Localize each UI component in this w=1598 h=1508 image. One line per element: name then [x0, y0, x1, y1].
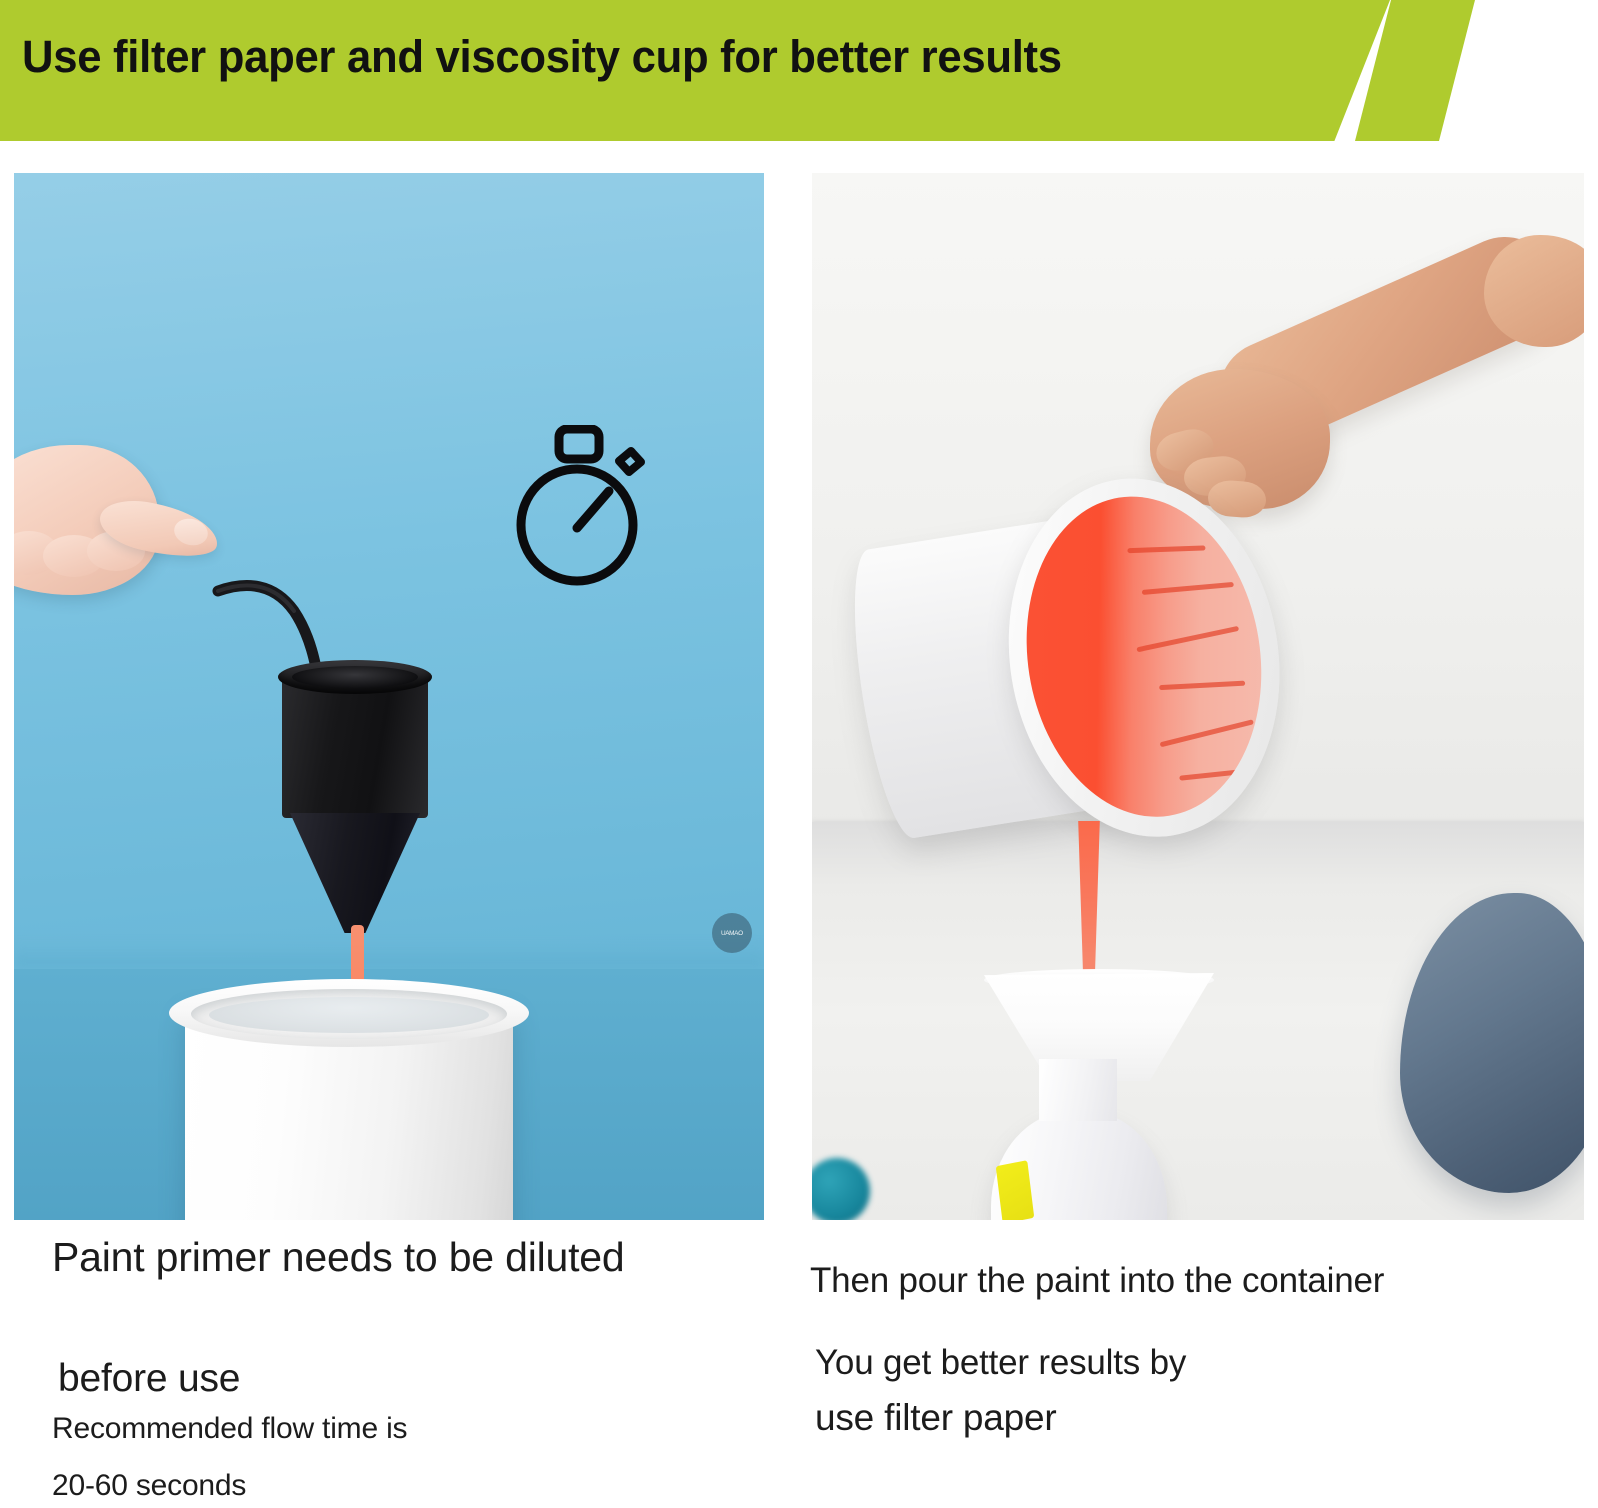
- paint-streak: [1160, 719, 1254, 747]
- right-caption-line-1: Then pour the paint into the container: [810, 1256, 1570, 1305]
- hand-holding-cup: [14, 435, 219, 610]
- stopwatch-icon: [507, 425, 653, 591]
- page-title: Use filter paper and viscosity cup for b…: [22, 31, 1062, 83]
- bucket-interior: [209, 997, 489, 1033]
- paint-streak: [1127, 545, 1205, 553]
- paint-streak: [1136, 626, 1239, 653]
- watermark-label: UAMAO: [721, 930, 743, 936]
- white-bottle: [977, 1059, 1177, 1220]
- left-caption-line-2: before use: [58, 1352, 758, 1407]
- viscosity-cup-body: [282, 673, 428, 818]
- left-caption-line-3: Recommended flow time is: [52, 1408, 752, 1450]
- header-banner: Use filter paper and viscosity cup for b…: [0, 0, 1598, 146]
- left-caption-line-1: Paint primer needs to be diluted: [52, 1228, 752, 1286]
- white-bucket: [169, 953, 529, 1220]
- paint-streak: [1159, 681, 1245, 690]
- left-caption-line-4: 20-60 seconds: [52, 1465, 752, 1507]
- right-image-panel: [812, 173, 1584, 1220]
- right-caption-line-2: You get better results by: [815, 1338, 1575, 1387]
- left-image-panel: UAMAO: [14, 173, 764, 1220]
- right-caption-line-3: use filter paper: [815, 1392, 1575, 1444]
- tilted-paint-bucket: [833, 443, 1315, 933]
- paint-streak: [1142, 582, 1234, 595]
- bottle-neck: [1039, 1059, 1117, 1121]
- watermark-badge: UAMAO: [712, 913, 752, 953]
- viscosity-cup-opening: [292, 666, 418, 688]
